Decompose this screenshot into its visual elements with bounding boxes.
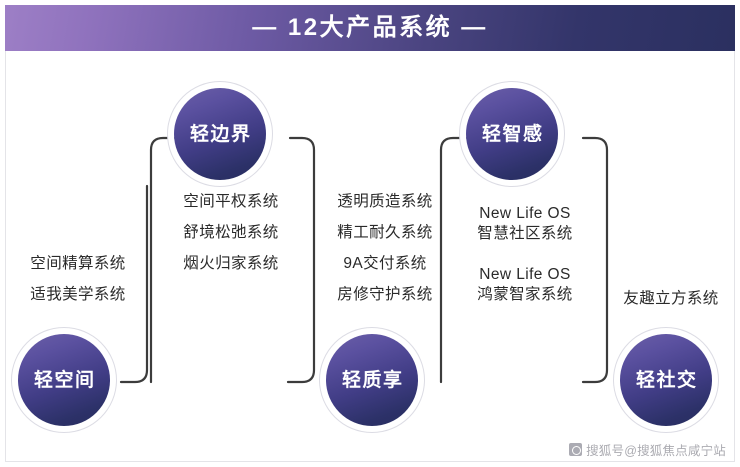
item-line: 9A交付系统 [318,255,452,272]
node-circle-qing-zhi-gan[interactable]: 轻智感 [466,88,558,180]
list-item: 舒境松弛系统 [158,224,304,241]
item-line: New Life OS [452,205,598,222]
node-circle-label: 轻空间 [32,371,95,390]
item-column-qing-she-jiao: 友趣立方系统 [608,290,734,307]
node-circle-qing-bian-jie[interactable]: 轻边界 [174,88,266,180]
node-circle-qing-she-jiao[interactable]: 轻社交 [620,334,712,426]
page-title: — 12大产品系统 — [252,16,488,40]
list-item: 房修守护系统 [318,286,452,303]
item-line: New Life OS [452,266,598,283]
sohu-logo-icon [569,443,582,456]
node-circle-label: 轻社交 [634,371,697,390]
item-column-qing-zhi-xiang: 透明质造系统 精工耐久系统 9A交付系统 房修守护系统 [318,193,452,303]
item-line: 鸿蒙智家系统 [452,286,598,303]
item-line: 精工耐久系统 [318,224,452,241]
item-column-qing-zhi-gan: New Life OS 智慧社区系统 New Life OS 鸿蒙智家系统 [452,205,598,303]
node-circle-label: 轻边界 [188,125,251,144]
list-item: 烟火归家系统 [158,255,304,272]
infographic-page: — 12大产品系统 — 轻空间 轻边界 轻质享 轻智感 轻社交 [0,0,740,467]
header-bar: — 12大产品系统 — [5,5,735,51]
node-circle-qing-kong-jian[interactable]: 轻空间 [18,334,110,426]
list-item: 9A交付系统 [318,255,452,272]
list-item: 友趣立方系统 [608,290,734,307]
list-item: 透明质造系统 [318,193,452,210]
list-item: 精工耐久系统 [318,224,452,241]
watermark: 搜狐号@搜狐焦点咸宁站 [569,440,726,459]
item-line: 适我美学系统 [8,286,148,303]
item-column-qing-kong-jian: 空间精算系统 适我美学系统 [8,255,148,303]
list-item: New Life OS 智慧社区系统 [452,205,598,242]
node-circle-label: 轻智感 [480,125,543,144]
item-line: 空间精算系统 [8,255,148,272]
item-line: 友趣立方系统 [608,290,734,307]
list-item: 适我美学系统 [8,286,148,303]
list-item: 空间精算系统 [8,255,148,272]
item-line: 空间平权系统 [158,193,304,210]
item-line: 透明质造系统 [318,193,452,210]
item-line: 舒境松弛系统 [158,224,304,241]
item-column-qing-bian-jie: 空间平权系统 舒境松弛系统 烟火归家系统 [158,193,304,272]
list-item: 空间平权系统 [158,193,304,210]
item-line: 房修守护系统 [318,286,452,303]
node-circle-qing-zhi-xiang[interactable]: 轻质享 [326,334,418,426]
watermark-text: 搜狐号@搜狐焦点咸宁站 [586,440,726,459]
item-line: 智慧社区系统 [452,225,598,242]
item-line: 烟火归家系统 [158,255,304,272]
node-circle-label: 轻质享 [340,371,403,390]
list-item: New Life OS 鸿蒙智家系统 [452,266,598,303]
